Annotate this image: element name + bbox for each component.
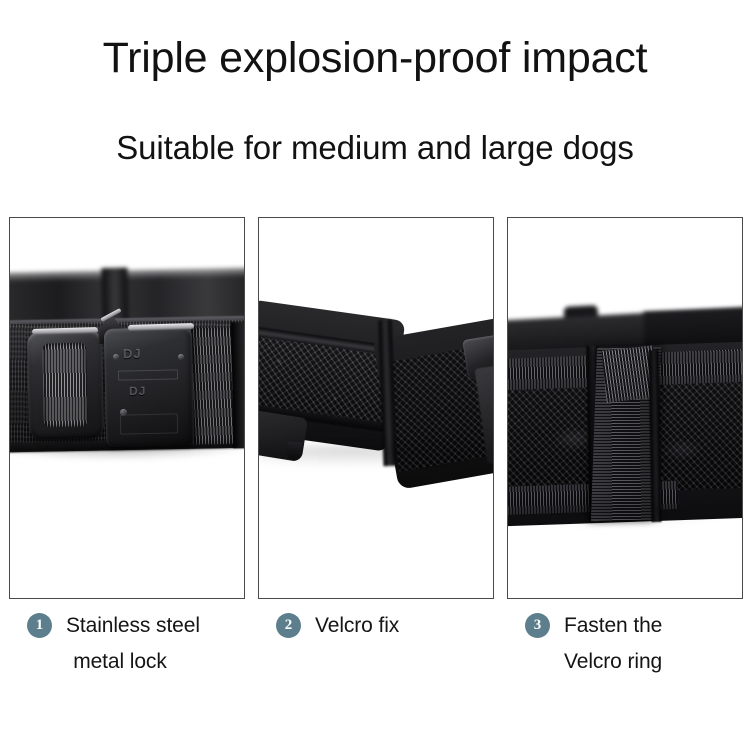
step-badge-2: 2 <box>276 613 301 638</box>
step-badge-3: 3 <box>525 613 550 638</box>
product-photo-panel-2[interactable] <box>258 217 494 599</box>
product-photo-panel-1[interactable]: DJ DJ <box>9 217 245 599</box>
buckle-left-slot <box>42 343 88 428</box>
product-photo-panel-3[interactable] <box>507 217 743 599</box>
caption-item-1: 1 Stainless steel metal lock <box>9 608 245 708</box>
caption-1-row: 1 Stainless steel metal lock <box>9 608 245 680</box>
caption-item-3: 3 Fasten the Velcro ring <box>507 608 743 708</box>
strap-drop-shadow <box>508 504 742 526</box>
right-webbing-edge <box>231 322 244 449</box>
velcro-photo <box>259 218 493 598</box>
collar-drop-shadow <box>259 446 493 468</box>
caption-row: 1 Stainless steel metal lock 2 Velcro fi… <box>0 608 750 718</box>
caption-2-row: 2 Velcro fix <box>258 608 494 644</box>
velcro-ring-photo <box>508 218 742 598</box>
page-subtitle: Suitable for medium and large dogs <box>0 128 750 168</box>
product-photo-row: DJ DJ <box>9 217 741 601</box>
caption-3-line-2: Velcro ring <box>564 644 688 680</box>
caption-1-line-2: metal lock <box>66 644 200 680</box>
buckle-photo: DJ DJ <box>10 218 244 598</box>
caption-2-line-1: Velcro fix <box>315 614 399 637</box>
caption-3-line-1: Fasten the <box>564 614 662 637</box>
buckle-emboss-mark-bottom: DJ <box>129 384 147 398</box>
caption-1-text: Stainless steel metal lock <box>66 608 200 680</box>
belt-drop-shadow <box>10 444 244 460</box>
buckle-rivet-right <box>178 354 184 360</box>
buckle-rivet-left <box>113 354 119 360</box>
buckle-emboss-mark-top: DJ <box>123 346 142 361</box>
step-badge-1: 1 <box>27 613 52 638</box>
caption-3-row: 3 Fasten the Velcro ring <box>507 608 743 680</box>
caption-3-text: Fasten the Velcro ring <box>564 608 688 680</box>
caption-item-2: 2 Velcro fix <box>258 608 494 708</box>
page-title: Triple explosion-proof impact <box>0 33 750 83</box>
caption-2-text: Velcro fix <box>315 608 399 644</box>
buckle-emboss-panel <box>120 413 178 434</box>
buckle-emboss-bar <box>118 369 178 380</box>
caption-1-line-1: Stainless steel <box>66 614 200 637</box>
